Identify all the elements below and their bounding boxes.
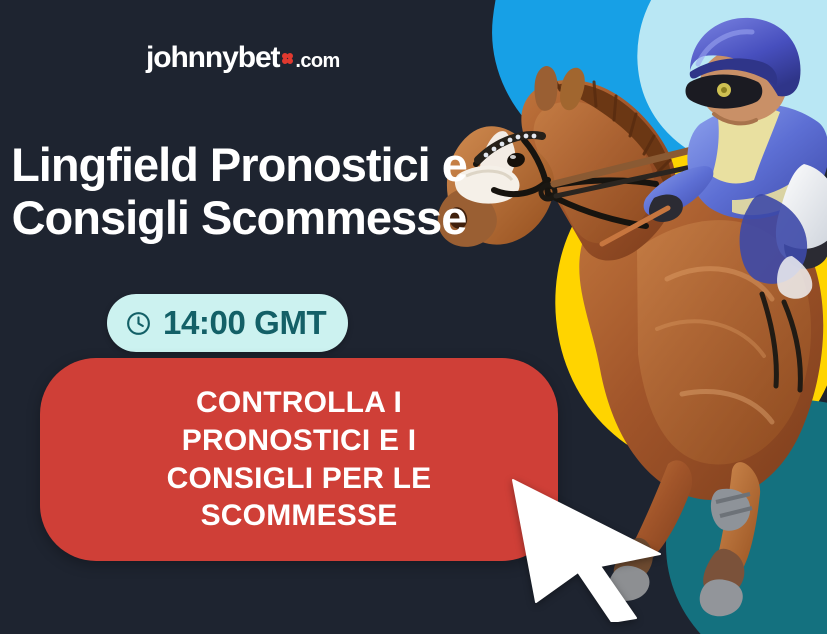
brand-tld: .com — [295, 50, 339, 73]
start-time-badge: 14:00 GMT — [107, 294, 348, 352]
promo-banner: johnnybet .com Lingfield Pronostici e Co… — [0, 0, 827, 634]
brand-logo[interactable]: johnnybet .com — [146, 41, 340, 75]
clover-icon — [282, 53, 293, 64]
brand-name: johnnybet — [146, 41, 279, 75]
page-title: Lingfield Pronostici e Consigli Scommess… — [8, 139, 470, 244]
cta-button-label: CONTROLLA I PRONOSTICI E I CONSIGLI PER … — [134, 384, 464, 535]
start-time-label: 14:00 GMT — [163, 304, 326, 342]
cta-button[interactable]: CONTROLLA I PRONOSTICI E I CONSIGLI PER … — [40, 358, 558, 561]
mouse-cursor-icon — [508, 462, 683, 622]
clock-icon — [125, 310, 152, 337]
